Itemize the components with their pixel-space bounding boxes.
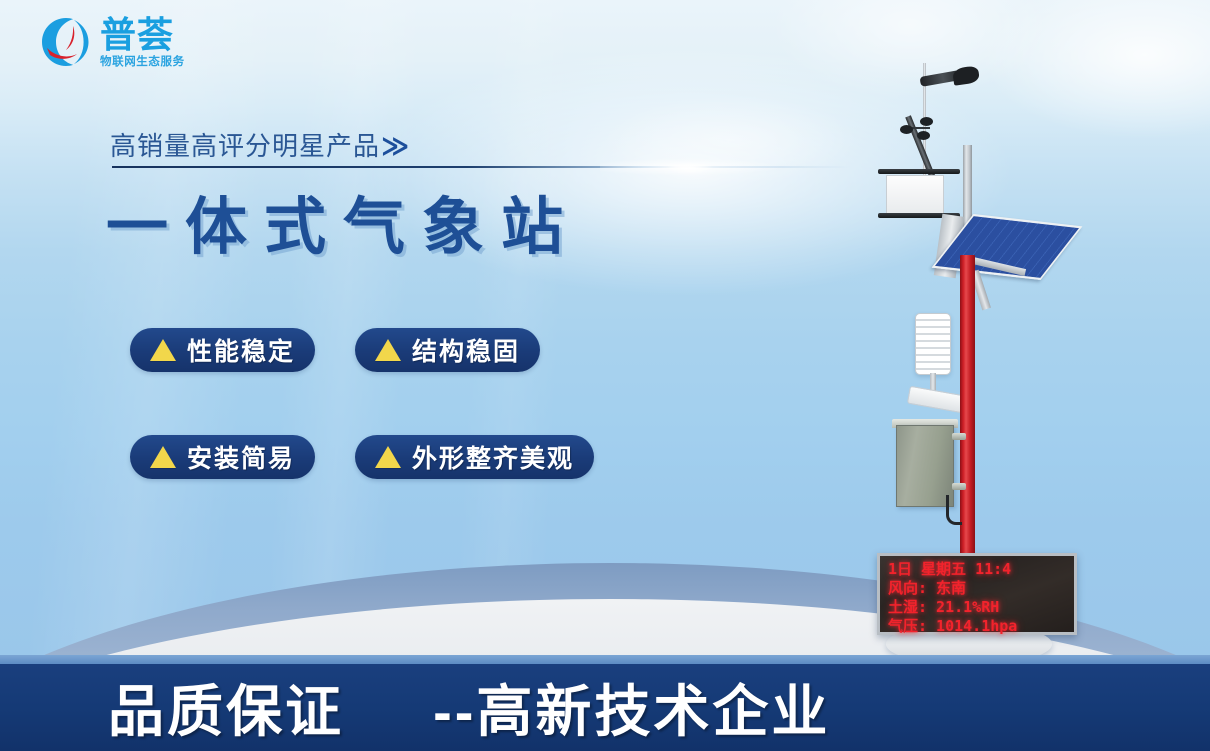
promotional-poster: 普荟 物联网生态服务 高销量高评分明星产品≫ 一体式气象站 性能稳定 结构稳固 … [0, 0, 1210, 751]
feature-pill-installation[interactable]: 安装简易 [130, 435, 315, 479]
anemometer-cup [900, 125, 913, 134]
led-line-wind-direction: 风向: 东南 [888, 579, 1068, 598]
logo-mark-icon [38, 14, 94, 70]
bottom-banner: 品质保证 --高新技术企业 [0, 664, 1210, 751]
triangle-bullet-icon [375, 339, 401, 361]
brand-name: 普荟 [100, 16, 185, 54]
triangle-bullet-icon [150, 339, 176, 361]
eyebrow-text: 高销量高评分明星产品≫ [110, 126, 410, 163]
page-title: 一体式气象站 [106, 176, 580, 266]
brand-tagline: 物联网生态服务 [100, 55, 185, 69]
chevron-right-icon: ≫ [381, 131, 410, 161]
cabinet-cable [946, 495, 962, 525]
feature-label: 安装简易 [187, 439, 295, 475]
banner-text: 品质保证 --高新技术企业 [108, 667, 830, 748]
triangle-bullet-icon [375, 446, 401, 468]
hero-divider [112, 166, 852, 168]
cabinet-mount-bolt [952, 483, 966, 490]
eyebrow-label: 高销量高评分明星产品 [110, 131, 380, 161]
banner-top-strip [0, 655, 1210, 664]
anemometer-cup [917, 131, 930, 140]
feature-pill-performance[interactable]: 性能稳定 [130, 328, 315, 372]
sensor-bracket [878, 169, 960, 174]
anemometer-cup [920, 117, 933, 126]
banner-main-text: 品质保证 [108, 680, 344, 743]
led-display-board: 1日 星期五 11:4 风向: 东南 土湿: 21.1%RH 气压: 1014.… [877, 553, 1077, 635]
anemometer [900, 117, 934, 139]
led-line-date: 1日 星期五 11:4 [888, 560, 1068, 579]
triangle-bullet-icon [150, 446, 176, 468]
feature-label: 外形整齐美观 [412, 439, 574, 475]
feature-pill-structure[interactable]: 结构稳固 [355, 328, 540, 372]
feature-label: 结构稳固 [412, 332, 520, 368]
wind-vane-tail [952, 65, 980, 85]
radiation-shield [915, 313, 951, 375]
feature-label: 性能稳定 [187, 332, 295, 368]
banner-secondary-text: --高新技术企业 [433, 680, 830, 743]
cabinet-mount-bolt [952, 433, 966, 440]
radiation-shield-stem [930, 373, 936, 391]
led-line-soil-humidity: 土湿: 21.1%RH [888, 598, 1068, 617]
brand-logo: 普荟 物联网生态服务 [38, 14, 185, 70]
sensor-panel [886, 175, 944, 215]
feature-pill-appearance[interactable]: 外形整齐美观 [355, 435, 594, 479]
logo-wordmark: 普荟 物联网生态服务 [100, 16, 185, 69]
led-line-pressure: 气压: 1014.1hpa [888, 617, 1068, 636]
